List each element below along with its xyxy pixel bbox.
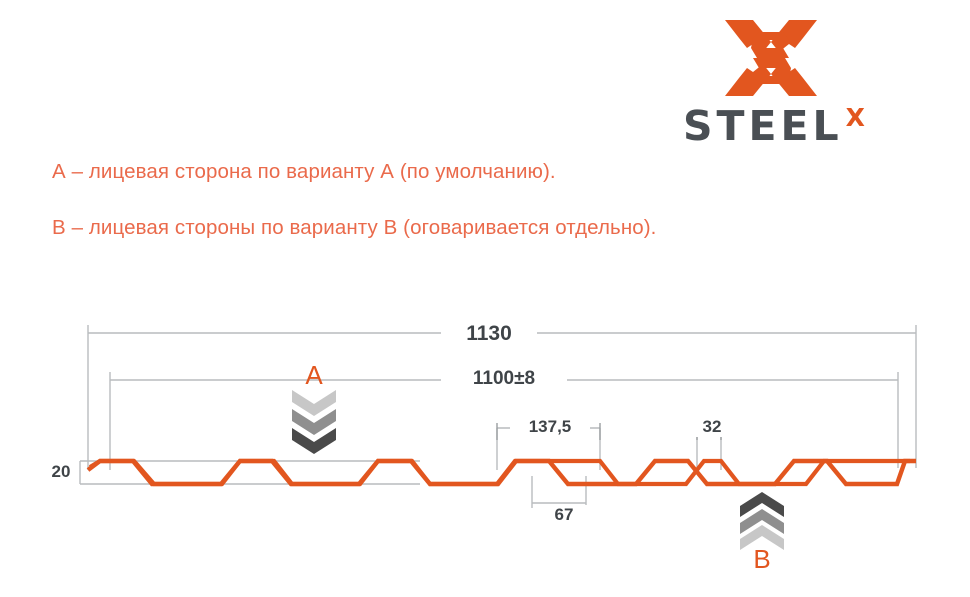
profile-waveform-main: [88, 461, 916, 484]
marker-side-b: В: [731, 492, 793, 580]
dimension-label-useful-width: 1100±8: [441, 368, 567, 390]
profile-technical-drawing: [0, 0, 970, 597]
marker-a-label: А: [283, 362, 345, 388]
marker-b-label: В: [731, 546, 793, 572]
dimension-lines: [80, 333, 916, 503]
dimension-label-total-width: 1130: [441, 322, 537, 346]
dimension-label-rib-top-width: 32: [690, 417, 734, 437]
dimension-label-valley-width: 67: [535, 505, 593, 525]
dimension-label-wave-pitch: 137,5: [510, 417, 590, 437]
chevron-down-stack-icon: [289, 390, 339, 454]
marker-side-a: А: [283, 362, 345, 454]
dimension-label-profile-height: 20: [44, 462, 78, 482]
chevron-up-stack-icon: [737, 492, 787, 550]
